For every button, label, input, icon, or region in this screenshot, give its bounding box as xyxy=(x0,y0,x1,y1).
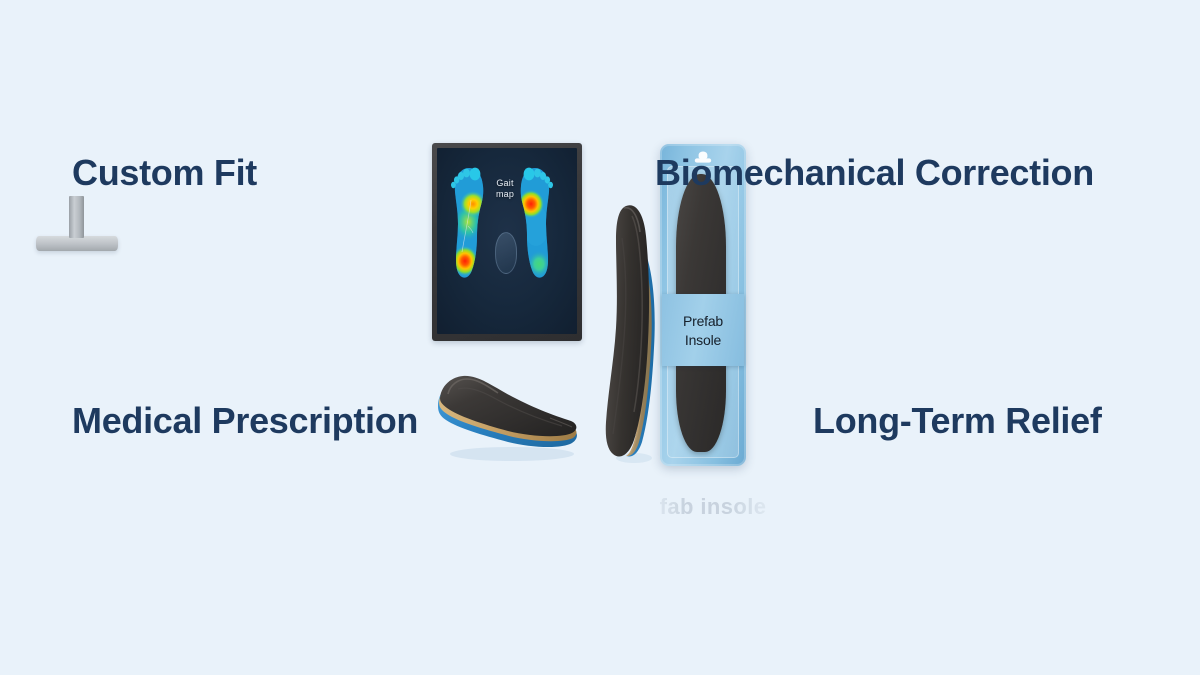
watermark-text: fab insole xyxy=(648,494,778,520)
monitor-stand-neck xyxy=(69,196,84,238)
gait-map-caption-line-2: map xyxy=(483,189,527,200)
package-label: Prefab Insole xyxy=(662,294,744,366)
monitor-icon: Gait map xyxy=(432,143,582,341)
feature-label-long-term-relief: Long-Term Relief xyxy=(813,403,1102,439)
gait-map-screen: Gait map xyxy=(437,148,577,334)
poster-canvas: Custom Fit Biomechanical Correction Medi… xyxy=(0,0,1200,675)
feature-label-biomechanical-correction: Biomechanical Correction xyxy=(655,155,1094,191)
package-label-line-1: Prefab xyxy=(683,313,723,329)
gait-map-caption: Gait map xyxy=(483,178,527,200)
feature-label-custom-fit: Custom Fit xyxy=(72,155,257,191)
gait-map-caption-line-1: Gait xyxy=(483,178,527,189)
feature-label-medical-prescription: Medical Prescription xyxy=(72,403,418,439)
package-label-line-2: Insole xyxy=(685,332,721,348)
gait-map-insole-thumbnail xyxy=(495,232,517,274)
custom-orthotic-insole-icon xyxy=(432,358,584,462)
insole-side-profile-icon xyxy=(602,192,664,464)
monitor-stand-base xyxy=(36,236,118,251)
